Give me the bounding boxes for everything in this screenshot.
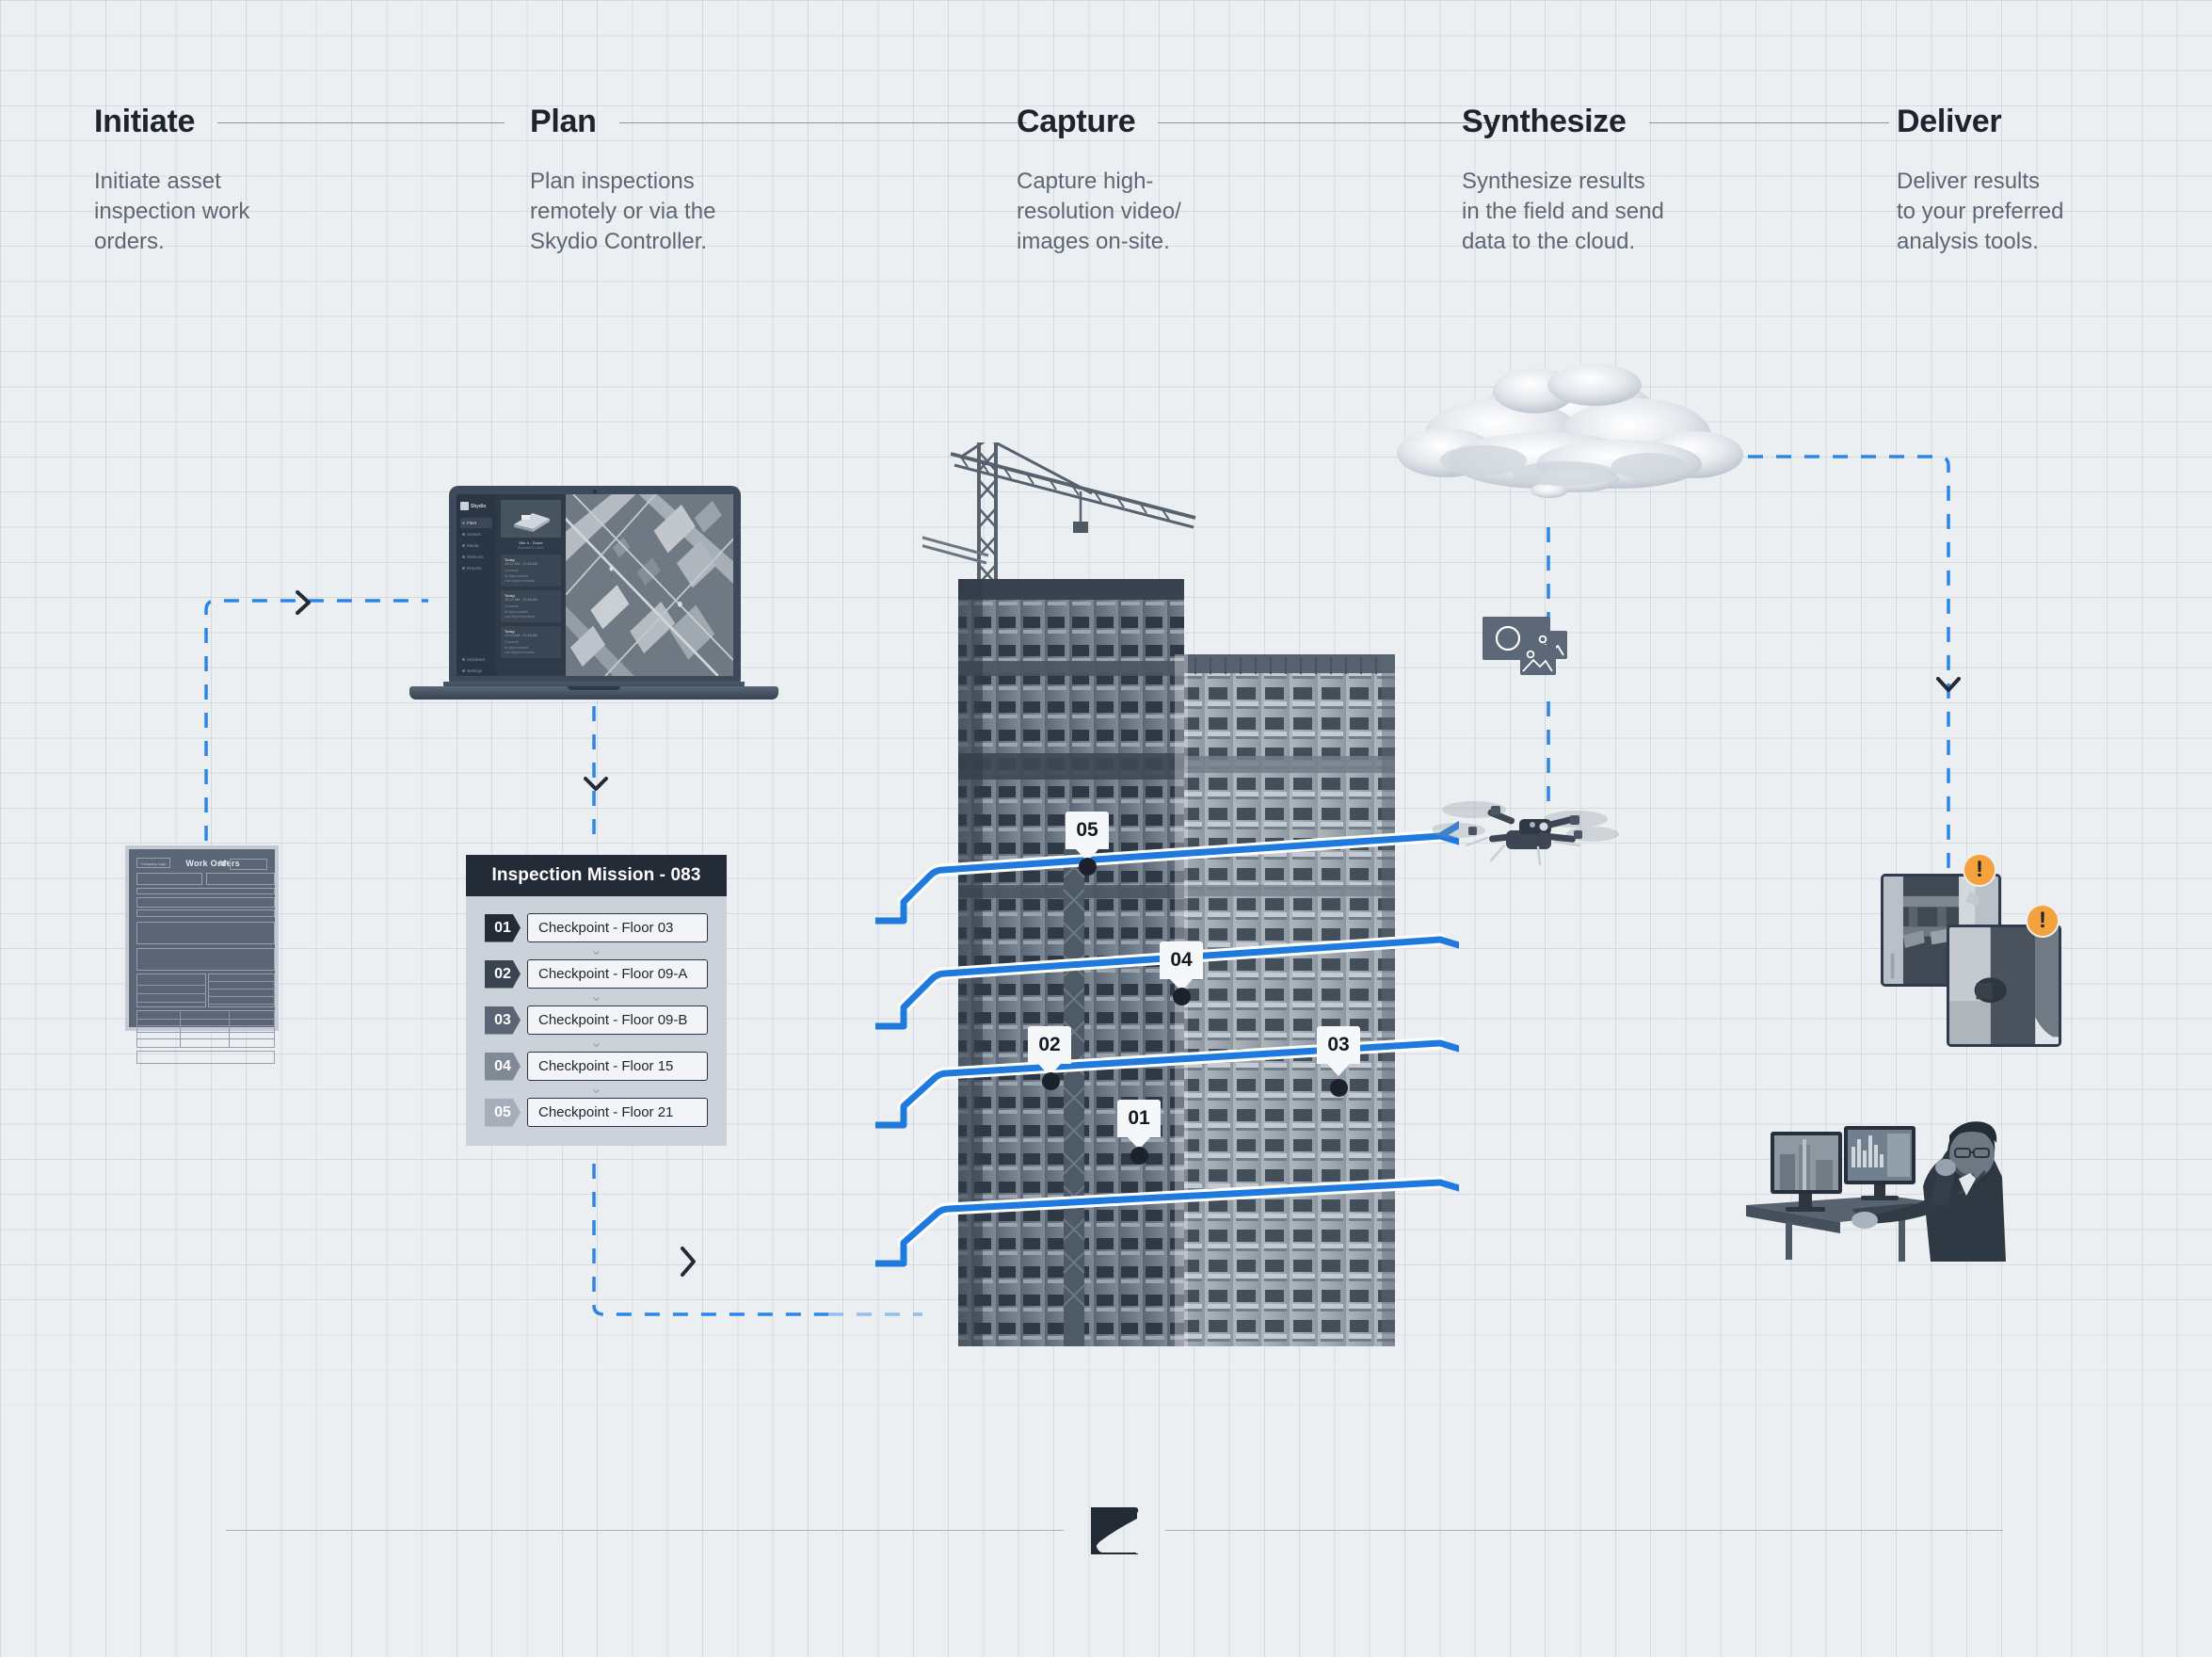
app-brand-label: Skydio <box>471 504 486 509</box>
capture-node-03 <box>1330 1079 1348 1097</box>
scene-card[interactable]: Today 10:12 AM - 11:46 AM 3 cameras No f… <box>501 626 561 658</box>
scene-card-row: Last height information <box>505 615 557 619</box>
image-icon <box>1520 645 1556 675</box>
work-order-form: Company Logo Work Orders N° <box>135 855 269 1022</box>
footer-rule-right <box>1165 1530 2003 1531</box>
app-brand: Skydio <box>460 502 492 510</box>
work-order-field-labor <box>208 973 275 1007</box>
mission-checkpoint-list: 01 Checkpoint - Floor 03 ⌄ 02 Checkpoint… <box>466 896 727 1127</box>
capture-node-01 <box>1130 1147 1148 1165</box>
step-plan: Plan Plan inspections remotely or via th… <box>530 104 1027 257</box>
checkpoint-label: Checkpoint - Floor 09-B <box>527 1005 708 1035</box>
sidebar-item-scenes-label: Scenes <box>467 532 481 537</box>
step-synthesize-desc: Synthesize results in the field and send… <box>1462 167 1889 257</box>
analyst-workstation-photo <box>1746 1073 2010 1262</box>
aerial-map-art <box>566 494 733 676</box>
sidebar-item-media-label: Media <box>467 543 478 548</box>
mission-title: Inspection Mission - 083 <box>466 855 727 896</box>
checkpoint-label: Checkpoint - Floor 15 <box>527 1052 708 1081</box>
step-capture-desc: Capture high- resolution video/ images o… <box>1017 167 1494 257</box>
work-order-field-city <box>136 873 202 885</box>
work-order-number-field <box>230 859 267 870</box>
scenes-icon <box>462 533 465 536</box>
scene-panel: Site 3 - Tower Scanned 5 x 2024 Today 10… <box>496 494 566 676</box>
capture-pin-02[interactable]: 02 <box>1028 1026 1071 1075</box>
scene-card-time: 10:12 AM - 11:46 AM <box>505 562 557 566</box>
capture-pin-05-label: 05 <box>1066 812 1109 849</box>
checkpoint-row[interactable]: 04 Checkpoint - Floor 15 <box>485 1052 708 1081</box>
step-deliver-head: Deliver <box>1897 104 2063 140</box>
scene-card-row: No flight available <box>505 574 557 578</box>
capture-node-02 <box>1042 1072 1060 1090</box>
laptop-notch <box>568 686 620 690</box>
chevron-down-icon: ⌄ <box>485 1084 708 1095</box>
checkpoint-badge: 01 <box>485 914 521 942</box>
sidebar-item-settings[interactable]: Settings <box>460 666 492 676</box>
step-plan-title: Plan <box>530 104 597 140</box>
step-deliver-title: Deliver <box>1897 104 2001 140</box>
scene-name: Site 3 - Tower <box>501 540 561 545</box>
app-sidebar: Skydio Fleet Scenes Media <box>457 494 496 676</box>
capture-pin-04-label: 04 <box>1160 941 1203 979</box>
analyst-illustration <box>1746 1073 2010 1262</box>
chevron-down-icon: ⌄ <box>485 1038 708 1049</box>
sidebar-item-reports-label: Reports <box>467 566 482 571</box>
cloud-graphic <box>1393 362 1751 532</box>
alert-badge-1[interactable]: ! <box>1963 853 1996 887</box>
checkpoint-label: Checkpoint - Floor 03 <box>527 913 708 942</box>
footer-rule-left <box>226 1530 1064 1531</box>
capture-node-04 <box>1173 988 1191 1005</box>
fleet-icon <box>462 522 465 524</box>
inspection-mission-panel: Inspection Mission - 083 01 Checkpoint -… <box>466 855 727 1146</box>
checkpoint-badge: 02 <box>485 960 521 989</box>
flow-arrow-capture <box>682 1248 694 1275</box>
capture-pin-03[interactable]: 03 <box>1317 1026 1360 1075</box>
capture-pin-01[interactable]: 01 <box>1117 1100 1161 1149</box>
sidebar-item-hardware-label: Hardware <box>467 657 486 662</box>
step-synthesize: Synthesize Synthesize results in the fie… <box>1462 104 1889 257</box>
infographic-canvas: Initiate Initiate asset inspection work … <box>0 0 2212 1657</box>
alert-badge-2-glyph: ! <box>2039 909 2046 932</box>
step-synthesize-head: Synthesize <box>1462 104 1889 140</box>
checkpoint-label: Checkpoint - Floor 09-A <box>527 959 708 989</box>
media-icon <box>462 544 465 547</box>
skydio-mark-icon <box>460 502 469 510</box>
media-card-front <box>1520 645 1556 675</box>
reports-icon <box>462 567 465 570</box>
scene-card-row: Last height information <box>505 579 557 583</box>
scene-thumb-art <box>501 500 561 538</box>
step-initiate-title: Initiate <box>94 104 195 140</box>
step-capture-title: Capture <box>1017 104 1135 140</box>
checkpoint-row[interactable]: 01 Checkpoint - Floor 03 <box>485 913 708 942</box>
step-deliver: Deliver Deliver results to your preferre… <box>1897 104 2063 257</box>
capture-node-05 <box>1079 858 1097 876</box>
step-plan-desc: Plan inspections remotely or via the Sky… <box>530 167 1027 257</box>
flow-arrow-plan-down <box>585 779 606 789</box>
missions-icon <box>462 555 465 558</box>
checkpoint-label: Checkpoint - Floor 21 <box>527 1098 708 1127</box>
work-order-field-service-done <box>136 948 275 971</box>
step-initiate-desc: Initiate asset inspection work orders. <box>94 167 505 257</box>
scene-card[interactable]: Today 10:12 AM - 11:46 AM 3 cameras No f… <box>501 590 561 622</box>
step-synthesize-rule <box>1649 122 1889 123</box>
aerial-map-view[interactable] <box>566 494 733 676</box>
laptop-screen: Skydio Fleet Scenes Media <box>457 494 733 676</box>
work-order-document: Company Logo Work Orders N° <box>125 845 279 1031</box>
alert-badge-2[interactable]: ! <box>2026 904 2060 938</box>
capture-pin-01-label: 01 <box>1117 1100 1161 1137</box>
step-deliver-desc: Deliver results to your preferred analys… <box>1897 167 2063 257</box>
checkpoint-badge: 04 <box>485 1053 521 1081</box>
work-order-field-manual <box>136 888 275 894</box>
laptop-camera-icon <box>593 490 597 493</box>
scene-card-row: No flight available <box>505 646 557 650</box>
work-order-logo-placeholder: Company Logo <box>136 858 170 868</box>
sidebar-item-reports[interactable]: Reports <box>460 563 492 573</box>
chevron-down-icon: ⌄ <box>485 945 708 957</box>
construction-building-photo <box>922 442 1412 1346</box>
flow-arrow-deliver-down <box>1938 679 1959 690</box>
laptop-device: Skydio Fleet Scenes Media <box>409 486 778 704</box>
checkpoint-row[interactable]: 03 Checkpoint - Floor 09-B <box>485 1005 708 1035</box>
work-order-field-notified <box>136 909 275 917</box>
skydio-logo <box>1087 1504 1142 1558</box>
checkpoint-badge: 03 <box>485 1006 521 1035</box>
gear-icon <box>462 669 465 672</box>
work-order-field-description <box>136 922 275 944</box>
step-initiate-rule <box>217 122 505 123</box>
sidebar-item-missions-label: Missions <box>467 555 484 559</box>
alert-badge-1-glyph: ! <box>1976 859 1983 881</box>
media-files-icon-group <box>1483 617 1595 701</box>
sidebar-item-scenes[interactable]: Scenes <box>460 529 492 539</box>
cloud-icon <box>1393 362 1751 532</box>
work-order-number-label: N° <box>219 860 228 868</box>
scene-card-time: 10:12 AM - 11:46 AM <box>505 598 557 602</box>
step-synthesize-title: Synthesize <box>1462 104 1627 140</box>
step-initiate: Initiate Initiate asset inspection work … <box>94 104 505 257</box>
step-initiate-head: Initiate <box>94 104 505 140</box>
scene-card[interactable]: Today 10:12 AM - 11:46 AM 3 cameras No f… <box>501 555 561 587</box>
capture-pin-02-label: 02 <box>1028 1026 1071 1064</box>
capture-pin-04[interactable]: 04 <box>1160 941 1203 990</box>
sidebar-bottom-group: Hardware Settings User account Skyd <box>460 654 492 676</box>
sidebar-item-settings-label: Settings <box>467 668 482 673</box>
scene-card-row: 3 cameras <box>505 569 557 572</box>
pin-tip-icon <box>1327 1064 1350 1076</box>
step-plan-head: Plan <box>530 104 1027 140</box>
step-plan-rule <box>619 122 1027 123</box>
capture-pin-03-label: 03 <box>1317 1026 1360 1064</box>
sidebar-item-missions[interactable]: Missions <box>460 552 492 562</box>
building-artwork <box>922 442 1412 1346</box>
sidebar-item-hardware[interactable]: Hardware <box>460 654 492 665</box>
drone-graphic <box>1433 791 1621 885</box>
hardware-icon <box>462 658 465 661</box>
scene-card-time: 10:12 AM - 11:46 AM <box>505 634 557 637</box>
scene-sub: Scanned 5 x 2024 <box>501 546 561 550</box>
flow-arrow-initiate <box>297 592 309 613</box>
work-order-field-service-type <box>136 897 275 908</box>
checkpoint-row[interactable]: 02 Checkpoint - Floor 09-A <box>485 959 708 989</box>
sidebar-item-fleet[interactable]: Fleet <box>460 518 492 528</box>
capture-pin-05[interactable]: 05 <box>1066 812 1109 861</box>
quadcopter-icon <box>1433 791 1621 885</box>
scene-card-row: 3 cameras <box>505 640 557 644</box>
sidebar-item-fleet-label: Fleet <box>467 521 476 525</box>
chevron-down-icon: ⌄ <box>485 991 708 1003</box>
laptop-lid: Skydio Fleet Scenes Media <box>449 486 741 684</box>
work-order-table-materials <box>136 1010 275 1048</box>
process-steps-header: Initiate Initiate asset inspection work … <box>0 0 2212 282</box>
step-capture-head: Capture <box>1017 104 1494 140</box>
work-order-field-equipment <box>206 873 275 885</box>
scene-thumbnail <box>501 500 561 538</box>
checkpoint-badge: 05 <box>485 1099 521 1127</box>
work-order-signature-row <box>136 1051 275 1064</box>
scene-card-row: No flight available <box>505 610 557 614</box>
scene-card-row: Last height information <box>505 651 557 654</box>
sidebar-item-media[interactable]: Media <box>460 540 492 551</box>
checkpoint-row[interactable]: 05 Checkpoint - Floor 21 <box>485 1098 708 1127</box>
step-capture-rule <box>1158 122 1494 123</box>
skydio-logo-icon <box>1087 1504 1142 1558</box>
step-capture: Capture Capture high- resolution video/ … <box>1017 104 1494 257</box>
inspection-image-2[interactable] <box>1947 925 2061 1047</box>
scene-card-row: 3 cameras <box>505 604 557 608</box>
inspection-photo-2-art <box>1949 927 2059 1044</box>
tower-crane <box>951 442 1195 593</box>
